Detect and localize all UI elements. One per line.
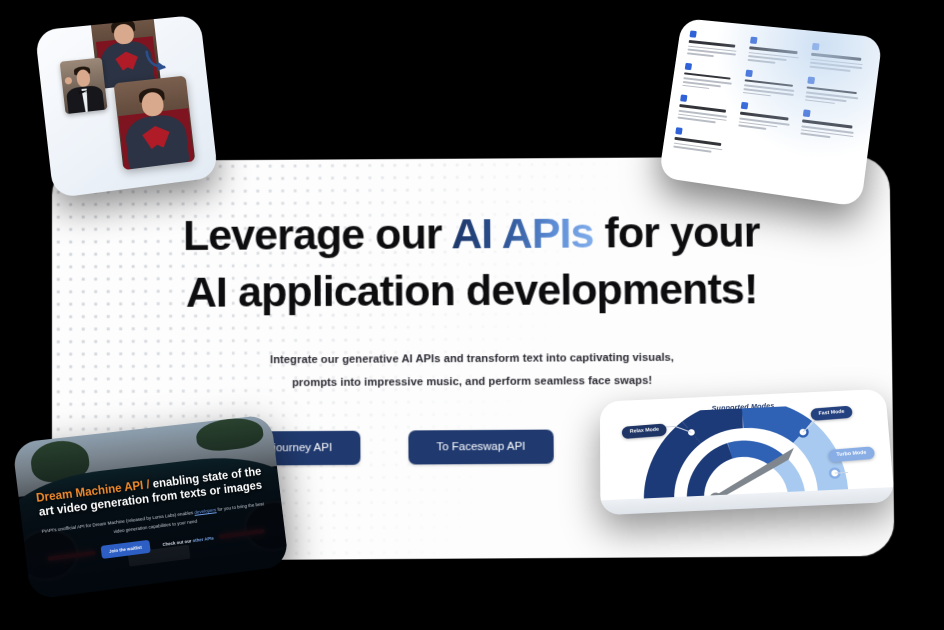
source-face-photo (60, 57, 108, 114)
page-subtitle: Integrate our generative AI APIs and tra… (52, 346, 892, 396)
headline-pre: Leverage our (183, 210, 451, 259)
feature-item (747, 37, 805, 69)
screenshot-stage: Leverage our AI APIs for your AI applica… (0, 0, 944, 630)
headline-line-2: AI application developments! (186, 266, 758, 317)
headline-line-1: Leverage our AI APIs for your (183, 209, 760, 260)
to-faceswap-api-button[interactable]: To Faceswap API (408, 430, 553, 465)
blue-square-icon (803, 110, 811, 118)
feature-item (682, 62, 738, 94)
blue-square-icon (750, 37, 758, 44)
blue-square-icon (740, 102, 748, 110)
supported-modes-gauge-card[interactable]: Supported Modes Relax Mode (600, 389, 895, 516)
feature-item (742, 69, 800, 102)
feature-item (738, 102, 796, 135)
blue-square-icon (685, 62, 692, 69)
headline-post: for your (593, 209, 759, 258)
other-apis-link[interactable]: Check out our other APIs (162, 536, 214, 548)
swapped-result-image (114, 76, 196, 171)
subtitle-line-2: prompts into impressive music, and perfo… (52, 368, 892, 396)
developers-link[interactable]: developers (194, 507, 216, 515)
blue-square-icon (689, 30, 696, 37)
feature-item (677, 95, 734, 128)
blue-square-icon (745, 69, 753, 77)
blue-square-icon (680, 95, 687, 103)
feature-item (809, 43, 869, 76)
page-title: Leverage our AI APIs for your AI applica… (52, 204, 892, 323)
feature-item (800, 110, 861, 144)
dream-machine-api-card[interactable]: Dream Machine API / enabling state of th… (12, 414, 289, 600)
face-swap-demo-card[interactable] (35, 15, 219, 199)
feature-item (687, 30, 743, 61)
curved-arrow-icon (144, 48, 172, 74)
turbo-mode-pill[interactable]: Turbo Mode (828, 446, 875, 462)
blue-square-icon (675, 127, 682, 135)
feature-grid (673, 30, 870, 174)
feature-item (673, 127, 729, 157)
blue-square-icon (808, 76, 816, 84)
feature-item (805, 76, 865, 109)
api-features-document-card[interactable] (659, 18, 883, 207)
blue-square-icon (812, 43, 820, 51)
headline-highlight: AI APIs (451, 210, 594, 259)
